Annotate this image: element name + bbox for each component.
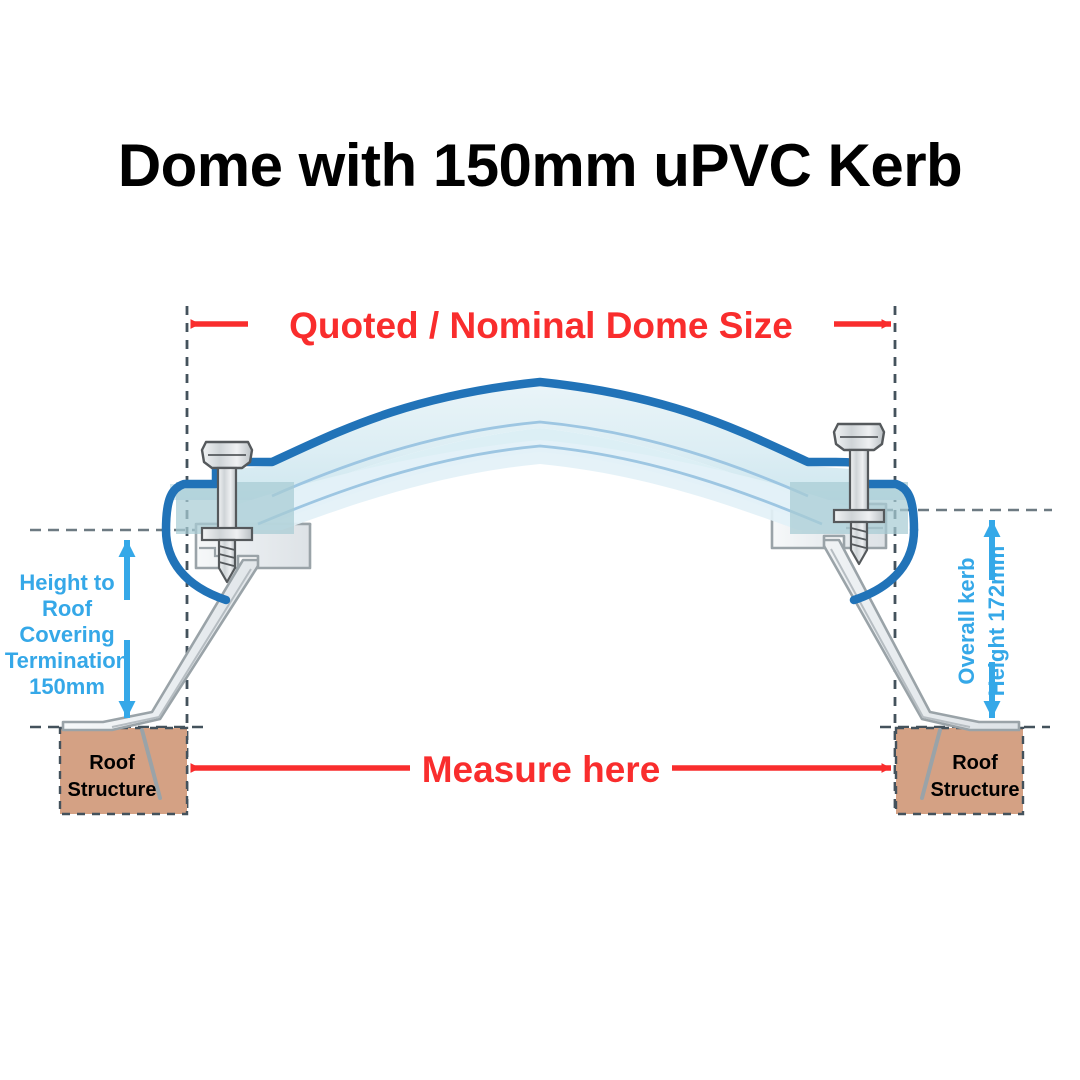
screw-washer-right xyxy=(834,510,884,522)
right-dimension: Overall kerb Height 172mm xyxy=(954,520,1009,718)
left-dimension-label-line1: Height to xyxy=(19,570,114,595)
roof-structure-right: Roof Structure xyxy=(896,728,1023,814)
top-dimension-label: Quoted / Nominal Dome Size xyxy=(289,305,793,346)
right-dimension-label-line1: Overall kerb xyxy=(954,557,979,684)
right-dimension-label-line2: Height 172mm xyxy=(984,546,1009,696)
screw-washer-left xyxy=(202,528,252,540)
left-dimension-label-line2: Roof xyxy=(42,596,93,621)
screw-shank-left xyxy=(218,468,236,536)
left-dimension-label-line5: 150mm xyxy=(29,674,105,699)
left-dimension-label-line4: Termination xyxy=(5,648,129,673)
bottom-dimension-label: Measure here xyxy=(422,749,661,790)
technical-section-drawing: Roof Structure Roof Structure xyxy=(0,0,1080,1080)
roof-structure-label-left-line1: Roof xyxy=(89,752,135,774)
roof-structure-left: Roof Structure xyxy=(60,728,187,814)
roof-structure-label-right-line1: Roof xyxy=(952,752,998,774)
left-dimension: Height to Roof Covering Termination 150m… xyxy=(5,540,129,718)
roof-structure-label-right-line2: Structure xyxy=(931,779,1020,801)
left-dimension-label-line3: Covering xyxy=(19,622,114,647)
bottom-dimension: Measure here xyxy=(191,749,891,790)
screw-shank-right xyxy=(850,450,868,518)
roof-structure-label-left-line2: Structure xyxy=(68,779,157,801)
diagram-canvas: Dome with 150mm uPVC Kerb xyxy=(0,0,1080,1080)
top-dimension: Quoted / Nominal Dome Size xyxy=(191,305,891,346)
